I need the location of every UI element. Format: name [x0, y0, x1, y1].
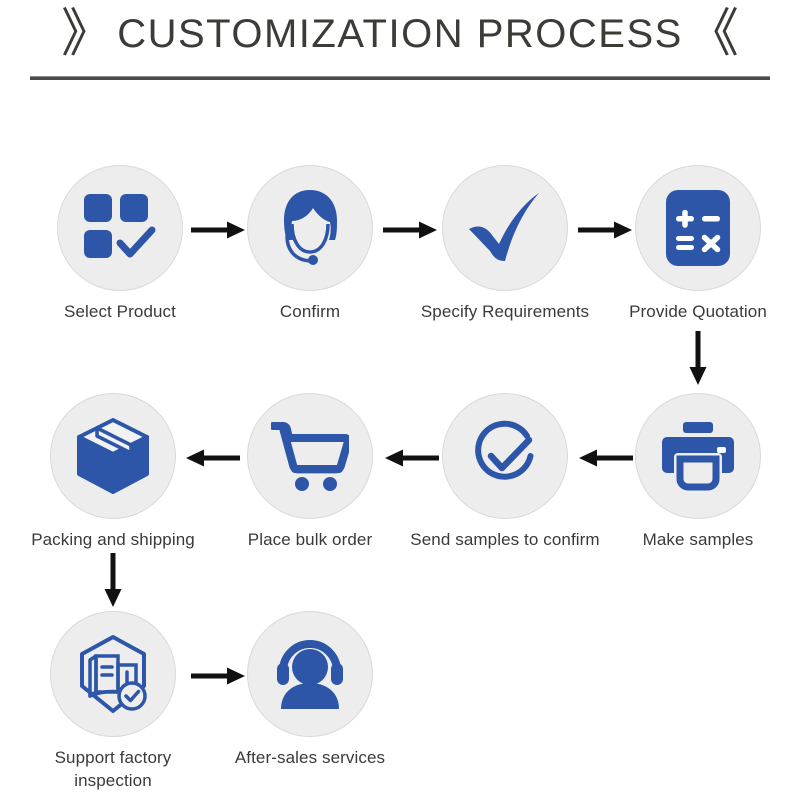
arrow-down-icon [101, 552, 125, 608]
arrow-down-icon [686, 330, 710, 386]
process-step-10[interactable]: After-sales services [210, 611, 410, 770]
process-step-8[interactable]: Packing and shipping [13, 393, 213, 552]
process-step-label: Make samples [598, 529, 798, 552]
process-step-label: Packing and shipping [13, 529, 213, 552]
arrow-right-icon [190, 218, 246, 242]
arrow-right-icon [577, 218, 633, 242]
customization-process-infographic: 》 CUSTOMIZATION PROCESS 《 Select Product… [0, 0, 800, 800]
process-step-4[interactable]: Provide Quotation [598, 165, 798, 324]
factory-shield-check-icon [50, 611, 176, 737]
process-step-label: Confirm [210, 301, 410, 324]
process-step-2[interactable]: Confirm [210, 165, 410, 324]
process-step-3[interactable]: Specify Requirements [405, 165, 605, 324]
package-box-icon [50, 393, 176, 519]
arrow-left-icon [384, 446, 440, 470]
process-step-7[interactable]: Place bulk order [210, 393, 410, 552]
process-step-label: Select Product [20, 301, 220, 324]
process-step-5[interactable]: Make samples [598, 393, 798, 552]
arrow-left-icon [185, 446, 241, 470]
printer-icon [635, 393, 761, 519]
chevron-double-right-icon: 》 [61, 8, 113, 60]
process-step-label: After-sales services [210, 747, 410, 770]
process-step-1[interactable]: Select Product [20, 165, 220, 324]
chevron-double-left-icon: 《 [687, 8, 739, 60]
title-divider [30, 76, 770, 80]
circle-check-icon [442, 393, 568, 519]
process-step-label: Support factory inspection [13, 747, 213, 793]
arrow-left-icon [578, 446, 634, 470]
support-agent-icon [247, 165, 373, 291]
process-step-9[interactable]: Support factory inspection [13, 611, 213, 793]
process-step-label: Send samples to confirm [405, 529, 605, 552]
process-step-6[interactable]: Send samples to confirm [405, 393, 605, 552]
arrow-right-icon [382, 218, 438, 242]
headset-person-icon [247, 611, 373, 737]
calculator-icon [635, 165, 761, 291]
arrow-right-icon [190, 664, 246, 688]
page-title: 》 CUSTOMIZATION PROCESS 《 [0, 8, 800, 60]
process-step-label: Place bulk order [210, 529, 410, 552]
process-step-label: Provide Quotation [598, 301, 798, 324]
process-step-label: Specify Requirements [405, 301, 605, 324]
page-title-text: CUSTOMIZATION PROCESS [117, 14, 683, 54]
checkmark-icon [442, 165, 568, 291]
shopping-cart-icon [247, 393, 373, 519]
grid-check-icon [57, 165, 183, 291]
